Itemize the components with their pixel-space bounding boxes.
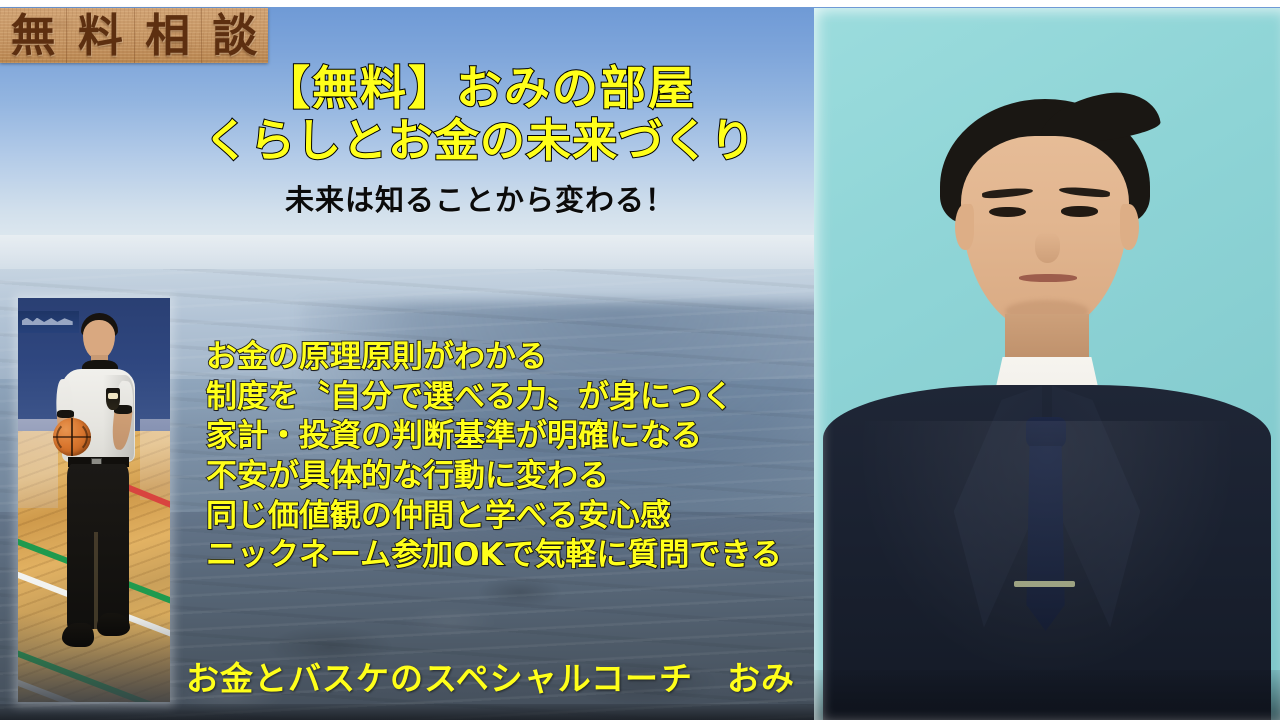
headline-line-2: くらしとお金の未来づくり <box>190 115 770 167</box>
banner-char-1: 無 <box>0 8 67 63</box>
subheadline: 未来は知ることから変わる！ <box>190 183 770 218</box>
benefit-item: 不安が具体的な行動に変わる <box>206 457 826 497</box>
portrait-photo <box>814 8 1280 720</box>
benefit-item: 制度を〝自分で選べる力〟が身につく <box>206 378 826 418</box>
referee-photo <box>18 298 170 702</box>
referee-head <box>83 320 115 358</box>
banner-char-2: 料 <box>67 8 134 63</box>
benefit-item: お金の原理原則がわかる <box>206 338 826 378</box>
basketball <box>53 418 91 457</box>
pants-leg-gap <box>94 532 98 629</box>
benefit-item: 同じ価値観の仲間と学べる安心感 <box>206 497 826 537</box>
headline-block: 【無料】おみの部屋 くらしとお金の未来づくり <box>190 62 770 168</box>
coach-tagline: お金とバスケのスペシャルコーチ おみ <box>186 661 795 697</box>
slide-canvas: 無 料 相 談 【無料】おみの部屋 くらしとお金の未来づくり 未来は知ることから… <box>0 0 1280 720</box>
referee-figure <box>18 298 170 702</box>
referee-shoe-left <box>62 623 94 647</box>
portrait-mouth <box>1019 274 1077 282</box>
referee-badge <box>106 388 120 411</box>
portrait-bottom-shadow <box>814 670 1280 720</box>
banner-char-3: 相 <box>135 8 202 63</box>
portrait-ear-left <box>955 204 975 250</box>
benefit-item: ニックネーム参加OKで気軽に質問できる <box>206 536 826 576</box>
portrait-ear-right <box>1120 204 1140 250</box>
portrait-nose <box>1035 232 1060 263</box>
banner-character-row: 無 料 相 談 <box>0 8 268 63</box>
basketball-seam <box>56 421 88 454</box>
benefit-list: お金の原理原則がわかる 制度を〝自分で選べる力〟が身につく 家計・投資の判断基準… <box>206 338 826 576</box>
benefit-item: 家計・投資の判断基準が明確になる <box>206 417 826 457</box>
headline-line-1: 【無料】おみの部屋 <box>190 62 770 115</box>
referee-shoe-right <box>97 613 130 636</box>
banner-char-4: 談 <box>202 8 268 63</box>
portrait-eye-right <box>1061 206 1098 217</box>
free-consultation-banner: 無 料 相 談 <box>0 8 268 63</box>
portrait-figure <box>814 8 1280 720</box>
